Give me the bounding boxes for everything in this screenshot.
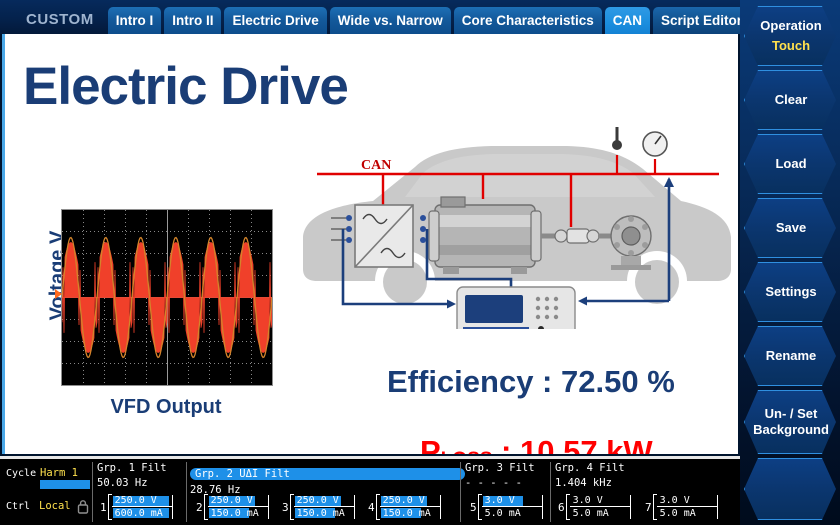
ploss-value: 10.57 kW: [520, 434, 653, 454]
softkey-label: Load: [775, 156, 806, 172]
channel-end-cap: [630, 495, 631, 519]
group-2[interactable]: Grp. 2 UΔI Filt28.76 Hz: [190, 462, 465, 496]
softkey-label: Operation: [760, 18, 821, 34]
scope-trigger-marker[interactable]: [55, 289, 62, 299]
channel-bars: 250.0 V150.0 mA: [208, 495, 268, 519]
page-title: Electric Drive: [23, 60, 348, 113]
softkey-label: Un- / Set Background: [745, 406, 837, 439]
channel-number: 4: [368, 501, 375, 514]
group-1[interactable]: Grp. 1 Filt50.03 Hz: [97, 462, 167, 489]
channel-end-cap: [354, 495, 355, 519]
softkey-label: Save: [776, 220, 806, 236]
channel-5[interactable]: 53.0 V5.0 mA: [470, 494, 543, 520]
softkey-settings[interactable]: Settings: [744, 262, 838, 322]
status-bar: Cycle Harm 1 Ctrl Local Grp. 1 Filt50.03…: [0, 456, 740, 525]
channel-bars: 250.0 V150.0 mA: [380, 495, 440, 519]
channel-number: 2: [196, 501, 203, 514]
lock-icon: [76, 499, 90, 515]
group-title: Grp. 1 Filt: [97, 462, 167, 474]
tab-script-editor[interactable]: Script Editor: [653, 7, 750, 34]
custom-label: CUSTOM: [0, 12, 108, 34]
softkey-label: Rename: [766, 348, 817, 364]
channel-number: 7: [645, 501, 652, 514]
channel-current-value: 150.0 mA: [295, 508, 345, 519]
channel-bars: 250.0 V150.0 mA: [294, 495, 354, 519]
channel-axis: [482, 506, 542, 507]
status-separator: [92, 462, 93, 522]
channel-bars: 250.0 V600.0 mA: [112, 495, 172, 519]
channel-end-cap: [440, 495, 441, 519]
channel-voltage-value: 250.0 V: [113, 495, 157, 506]
channel-6[interactable]: 63.0 V5.0 mA: [558, 494, 631, 520]
channel-voltage-value: 3.0 V: [658, 495, 690, 506]
channel-number: 5: [470, 501, 477, 514]
scope-display[interactable]: [61, 209, 273, 386]
channel-voltage-value: 250.0 V: [209, 495, 253, 506]
tab-bar: CUSTOM Intro IIntro IIElectric DriveWide…: [0, 0, 740, 34]
channel-current-value: 150.0 mA: [209, 508, 259, 519]
application-window: CUSTOM Intro IIntro IIElectric DriveWide…: [0, 0, 840, 525]
ploss-separator: :: [492, 434, 520, 454]
softkey-sublabel: Touch: [772, 38, 810, 54]
channel-end-cap: [268, 495, 269, 519]
channel-current-value: 5.0 mA: [658, 508, 696, 519]
tab-intro-ii[interactable]: Intro II: [164, 7, 221, 34]
softkey-un-set-background[interactable]: Un- / Set Background: [744, 390, 838, 454]
channel-axis: [570, 506, 630, 507]
channel-number: 6: [558, 501, 565, 514]
can-bus-label: CAN: [361, 158, 391, 173]
group-frequency: 1.404 kHz: [555, 477, 625, 489]
channel-4[interactable]: 4250.0 V150.0 mA: [368, 494, 441, 520]
channel-current-value: 5.0 mA: [483, 508, 521, 519]
main-content-panel: Electric Drive CAN: [2, 34, 738, 454]
efficiency-label: Efficiency :: [387, 364, 561, 399]
tab-wide-vs-narrow[interactable]: Wide vs. Narrow: [330, 7, 451, 34]
ctrl-value[interactable]: Local: [39, 500, 71, 512]
cycle-bar: [40, 480, 90, 489]
channel-number: 1: [100, 501, 107, 514]
scope-waveform: [62, 210, 272, 385]
channel-bars: 3.0 V5.0 mA: [657, 495, 717, 519]
softkey-blank[interactable]: [744, 458, 838, 520]
softkey-rename[interactable]: Rename: [744, 326, 838, 386]
ploss-label: P: [420, 434, 441, 454]
channel-axis: [294, 506, 354, 507]
channel-end-cap: [172, 495, 173, 519]
channel-7[interactable]: 73.0 V5.0 mA: [645, 494, 718, 520]
cycle-label: Cycle: [6, 468, 36, 479]
channel-voltage-value: 3.0 V: [483, 495, 515, 506]
electric-drive-diagram: CAN: [295, 119, 735, 329]
group-title: Grp. 4 Filt: [555, 462, 625, 474]
power-loss-readout: PLOSS : 10.57 kW: [420, 434, 653, 454]
tab-list: Intro IIntro IIElectric DriveWide vs. Na…: [108, 7, 753, 34]
tab-electric-drive[interactable]: Electric Drive: [224, 7, 326, 34]
channel-current-value: 5.0 mA: [571, 508, 609, 519]
softkey-label: Settings: [765, 284, 816, 300]
softkey-load[interactable]: Load: [744, 134, 838, 194]
channel-current-value: 600.0 mA: [113, 508, 163, 519]
efficiency-value: 72.50 %: [561, 364, 675, 399]
channel-voltage-value: 250.0 V: [295, 495, 339, 506]
status-bar-divider: [0, 456, 740, 459]
soft-key-sidebar: OperationTouchClearLoadSaveSettingsRenam…: [740, 0, 840, 525]
softkey-label: Clear: [775, 92, 808, 108]
channel-1[interactable]: 1250.0 V600.0 mA: [100, 494, 173, 520]
channel-end-cap: [717, 495, 718, 519]
tab-can[interactable]: CAN: [605, 7, 650, 34]
tab-intro-i[interactable]: Intro I: [108, 7, 162, 34]
channel-bars: 3.0 V5.0 mA: [570, 495, 630, 519]
channel-axis: [657, 506, 717, 507]
channel-axis: [112, 506, 172, 507]
group-frequency: 50.03 Hz: [97, 477, 167, 489]
channel-axis: [380, 506, 440, 507]
channel-end-cap: [542, 495, 543, 519]
channel-number: 3: [282, 501, 289, 514]
cycle-ctrl-block: Cycle Harm 1 Ctrl Local: [4, 464, 92, 520]
channel-current-value: 150.0 mA: [381, 508, 431, 519]
group-title: Grp. 3 Filt: [465, 462, 535, 474]
ctrl-label: Ctrl: [6, 501, 30, 512]
status-separator: [186, 462, 187, 522]
status-separator: [460, 462, 461, 522]
scope-caption: VFD Output: [61, 396, 271, 419]
channel-axis: [208, 506, 268, 507]
channel-voltage-value: 250.0 V: [381, 495, 425, 506]
ploss-subscript: LOSS: [441, 449, 493, 454]
channel-voltage-value: 3.0 V: [571, 495, 603, 506]
tab-core-characteristics[interactable]: Core Characteristics: [454, 7, 602, 34]
channel-bars: 3.0 V5.0 mA: [482, 495, 542, 519]
status-separator: [550, 462, 551, 522]
scope-widget: Voltage V VFD Output: [25, 206, 275, 446]
group-3[interactable]: Grp. 3 Filt- - - - -: [465, 462, 535, 489]
cycle-value[interactable]: Harm 1: [40, 467, 78, 479]
channel-2[interactable]: 2250.0 V150.0 mA: [196, 494, 269, 520]
channel-3[interactable]: 3250.0 V150.0 mA: [282, 494, 355, 520]
softkey-save[interactable]: Save: [744, 198, 838, 258]
efficiency-readout: Efficiency : 72.50 %: [387, 364, 675, 400]
softkey-clear[interactable]: Clear: [744, 70, 838, 130]
group-frequency: - - - - -: [465, 477, 535, 489]
group-title: Grp. 2 UΔI Filt: [190, 468, 465, 480]
group-4[interactable]: Grp. 4 Filt1.404 kHz: [555, 462, 625, 489]
softkey-operation[interactable]: OperationTouch: [744, 6, 838, 66]
